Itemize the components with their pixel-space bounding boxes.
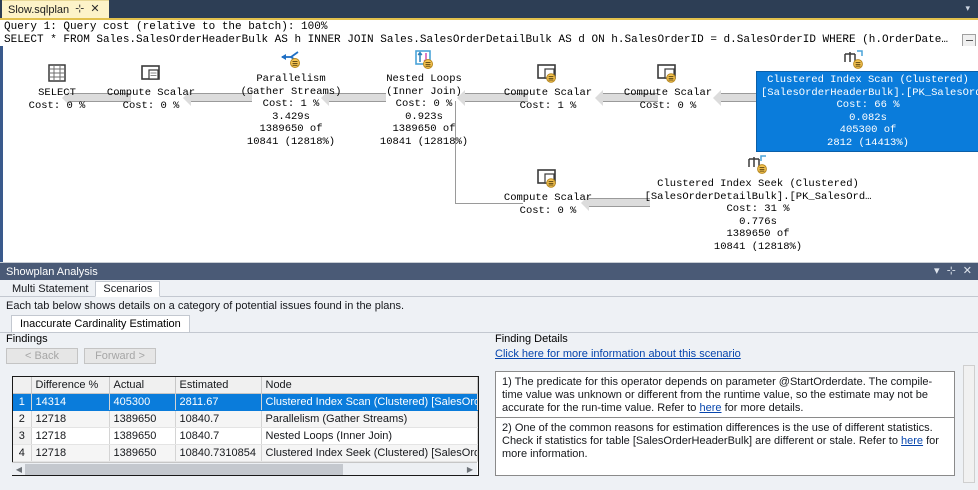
- details-vertical-scrollbar[interactable]: [963, 365, 975, 483]
- findings-pane: Findings < Back Forward > Difference % A…: [0, 329, 489, 490]
- plan-node-object: [SalesOrderDetailBulk].[PK_SalesOrd…: [633, 191, 883, 204]
- column-header-actual[interactable]: Actual: [109, 377, 175, 393]
- plan-node-rows-actual: 1389650 of: [365, 123, 483, 136]
- plan-node-cost: Cost: 31 %: [633, 203, 883, 216]
- cell-difference: 12718: [31, 427, 109, 444]
- plan-node-compute-scalar-4[interactable]: Compute ScalarCost: 0 %: [493, 167, 603, 217]
- chevron-down-icon[interactable]: ▾: [934, 264, 940, 279]
- finding-detail-paragraph-2: 2) One of the common reasons for estimat…: [496, 417, 954, 463]
- plan-node-title: Clustered Index Scan (Clustered): [761, 74, 975, 87]
- cell-actual: 1389650: [109, 427, 175, 444]
- plan-node-duration: 0.082s: [761, 112, 975, 125]
- row-number: 1: [13, 393, 31, 410]
- query-cost-line: Query 1: Query cost (relative to the bat…: [4, 21, 978, 34]
- query-text-line: SELECT * FROM Sales.SalesOrderHeaderBulk…: [4, 34, 978, 46]
- plan-node-duration: 3.429s: [229, 111, 353, 124]
- execution-plan-canvas: SELECTCost: 0 % Compute ScalarCost: 0 % …: [0, 46, 978, 262]
- plan-node-title: Compute Scalar: [493, 87, 603, 100]
- cell-estimated: 10840.7: [175, 427, 261, 444]
- findings-label: Findings: [6, 333, 489, 345]
- parallelism-icon: [278, 48, 304, 72]
- scroll-left-icon[interactable]: ◀: [13, 464, 25, 475]
- compute-scalar-icon: [655, 62, 681, 86]
- close-icon[interactable]: ✕: [963, 264, 972, 279]
- plan-node-rows-actual: 1389650 of: [633, 228, 883, 241]
- plan-node-cost: Cost: 0 %: [493, 205, 603, 218]
- finding-detail-paragraph-1: 1) The predicate for this operator depen…: [496, 372, 954, 417]
- paragraph-1-text-b: for more details.: [722, 402, 804, 414]
- plan-node-rows-estimated: 2812 (14413%): [761, 137, 975, 150]
- cell-node: Clustered Index Seek (Clustered) [SalesO…: [261, 444, 478, 461]
- document-tab-label: Slow.sqlplan: [8, 4, 69, 16]
- chevron-down-icon[interactable]: ▾: [965, 3, 970, 14]
- findings-nav-buttons: < Back Forward >: [6, 348, 489, 364]
- cell-difference: 12718: [31, 444, 109, 461]
- finding-details-pane: Finding Details Click here for more info…: [489, 329, 978, 490]
- plan-node-cost: Cost: 0 %: [91, 100, 211, 113]
- table-row[interactable]: 1 14314 405300 2811.67 Clustered Index S…: [13, 393, 478, 410]
- analysis-description: Each tab below shows details on a catego…: [0, 297, 978, 315]
- cell-estimated: 10840.7310854: [175, 444, 261, 461]
- plan-node-title: Compute Scalar: [613, 87, 723, 100]
- column-header-rownum[interactable]: [13, 377, 31, 393]
- row-number: 3: [13, 427, 31, 444]
- plan-node-subtitle: (Gather Streams): [229, 86, 353, 99]
- plan-node-rows-actual: 1389650 of: [229, 123, 353, 136]
- compute-scalar-icon: [138, 62, 164, 86]
- document-tab-strip: Slow.sqlplan ⊹ ✕ ▾: [0, 0, 978, 18]
- cell-estimated: 2811.67: [175, 393, 261, 410]
- pin-icon[interactable]: ⊹: [947, 264, 956, 279]
- plan-node-rows-estimated: 10841 (12818%): [229, 136, 353, 149]
- panel-title: Showplan Analysis: [6, 266, 98, 278]
- cell-difference: 12718: [31, 410, 109, 427]
- cell-difference: 14314: [31, 393, 109, 410]
- plan-node-parallelism[interactable]: Parallelism (Gather Streams) Cost: 1 % 3…: [229, 48, 353, 148]
- plan-node-rows-estimated: 10841 (12818%): [365, 136, 483, 149]
- plan-node-duration: 0.776s: [633, 216, 883, 229]
- cell-node: Parallelism (Gather Streams): [261, 410, 478, 427]
- plan-node-compute-scalar-3[interactable]: Compute ScalarCost: 0 %: [613, 62, 723, 112]
- showplan-analysis-panel: Showplan Analysis ▾ ⊹ ✕ Multi Statement …: [0, 262, 978, 490]
- tab-scenarios[interactable]: Scenarios: [95, 281, 160, 297]
- plan-arrow-indexscan: [720, 93, 760, 102]
- table-row[interactable]: 2 12718 1389650 10840.7 Parallelism (Gat…: [13, 410, 478, 427]
- plan-node-title: Compute Scalar: [493, 192, 603, 205]
- forward-button[interactable]: Forward >: [84, 348, 156, 364]
- plan-node-title: Clustered Index Seek (Clustered): [633, 178, 883, 191]
- table-row[interactable]: 3 12718 1389650 10840.7 Nested Loops (In…: [13, 427, 478, 444]
- plan-node-cost: Cost: 1 %: [493, 100, 603, 113]
- query-text-expand-button[interactable]: [962, 34, 976, 46]
- plan-node-compute-scalar-1[interactable]: Compute ScalarCost: 0 %: [91, 62, 211, 112]
- plan-node-nested-loops[interactable]: Nested Loops (Inner Join) Cost: 0 % 0.92…: [365, 48, 483, 148]
- plan-node-duration: 0.923s: [365, 111, 483, 124]
- close-icon[interactable]: ✕: [90, 4, 99, 15]
- here-link-2[interactable]: here: [901, 435, 923, 447]
- plan-node-compute-scalar-2[interactable]: Compute ScalarCost: 1 %: [493, 62, 603, 112]
- here-link-1[interactable]: here: [699, 402, 721, 414]
- select-result-icon: [44, 62, 70, 86]
- plan-node-title: Parallelism: [229, 73, 353, 86]
- plan-node-title: Compute Scalar: [91, 87, 211, 100]
- paragraph-2-text-a: 2) One of the common reasons for estimat…: [502, 422, 933, 447]
- scenario-info-link[interactable]: Click here for more information about th…: [495, 348, 978, 360]
- compute-scalar-icon: [535, 167, 561, 191]
- compute-scalar-icon: [535, 62, 561, 86]
- cell-actual: 1389650: [109, 444, 175, 461]
- column-header-node[interactable]: Node: [261, 377, 478, 393]
- plan-node-rows-estimated: 10841 (12818%): [633, 241, 883, 254]
- finding-details-label: Finding Details: [495, 333, 978, 345]
- plan-node-object: [SalesOrderHeaderBulk].[PK_SalesOrd…: [761, 87, 975, 100]
- findings-horizontal-scrollbar[interactable]: ◀ ▶: [12, 462, 477, 475]
- scrollbar-thumb[interactable]: [25, 464, 343, 475]
- column-header-estimated[interactable]: Estimated: [175, 377, 261, 393]
- findings-grid[interactable]: Difference % Actual Estimated Node 1 143…: [12, 376, 479, 476]
- cell-actual: 405300: [109, 393, 175, 410]
- plan-node-title: Nested Loops: [365, 73, 483, 86]
- findings-grid-header: Difference % Actual Estimated Node: [13, 377, 478, 393]
- finding-details-box: 1) The predicate for this operator depen…: [495, 371, 955, 476]
- cell-node: Nested Loops (Inner Join): [261, 427, 478, 444]
- pin-icon[interactable]: ⊹: [75, 4, 84, 15]
- plan-node-cost: Cost: 0 %: [365, 98, 483, 111]
- cell-node: Clustered Index Scan (Clustered) [SalesO…: [261, 393, 478, 410]
- plan-node-subtitle: (Inner Join): [365, 86, 483, 99]
- tab-multi-statement[interactable]: Multi Statement: [5, 282, 95, 296]
- scroll-right-icon[interactable]: ▶: [464, 464, 476, 475]
- table-row[interactable]: 4 12718 1389650 10840.7310854 Clustered …: [13, 444, 478, 461]
- row-number: 4: [13, 444, 31, 461]
- plan-node-cost: Cost: 1 %: [229, 98, 353, 111]
- clustered-index-seek-icon: [745, 153, 771, 177]
- clustered-index-scan-icon: [841, 48, 867, 72]
- analysis-tab-bar: Multi Statement Scenarios: [0, 280, 978, 297]
- cell-estimated: 10840.7: [175, 410, 261, 427]
- plan-node-cost: Cost: 66 %: [761, 99, 975, 112]
- document-tab-slow-sqlplan[interactable]: Slow.sqlplan ⊹ ✕: [2, 0, 109, 18]
- showplan-analysis-title-bar: Showplan Analysis ▾ ⊹ ✕: [0, 263, 978, 280]
- clustered-index-scan-icon-wrap: [841, 48, 867, 73]
- row-number: 2: [13, 410, 31, 427]
- analysis-panes: Findings < Back Forward > Difference % A…: [0, 329, 978, 490]
- plan-node-clustered-index-seek[interactable]: Clustered Index Seek (Clustered) [SalesO…: [633, 153, 883, 253]
- ssms-execution-plan-window: Slow.sqlplan ⊹ ✕ ▾ Query 1: Query cost (…: [0, 0, 978, 490]
- back-button[interactable]: < Back: [6, 348, 78, 364]
- plan-node-cost: Cost: 0 %: [613, 100, 723, 113]
- plan-node-rows-actual: 405300 of: [761, 124, 975, 137]
- plan-node-clustered-index-scan[interactable]: Clustered Index Scan (Clustered) [SalesO…: [757, 72, 978, 151]
- cell-actual: 1389650: [109, 410, 175, 427]
- query-cost-header: Query 1: Query cost (relative to the bat…: [0, 18, 978, 46]
- nested-loops-icon: [411, 48, 437, 72]
- column-header-difference[interactable]: Difference %: [31, 377, 109, 393]
